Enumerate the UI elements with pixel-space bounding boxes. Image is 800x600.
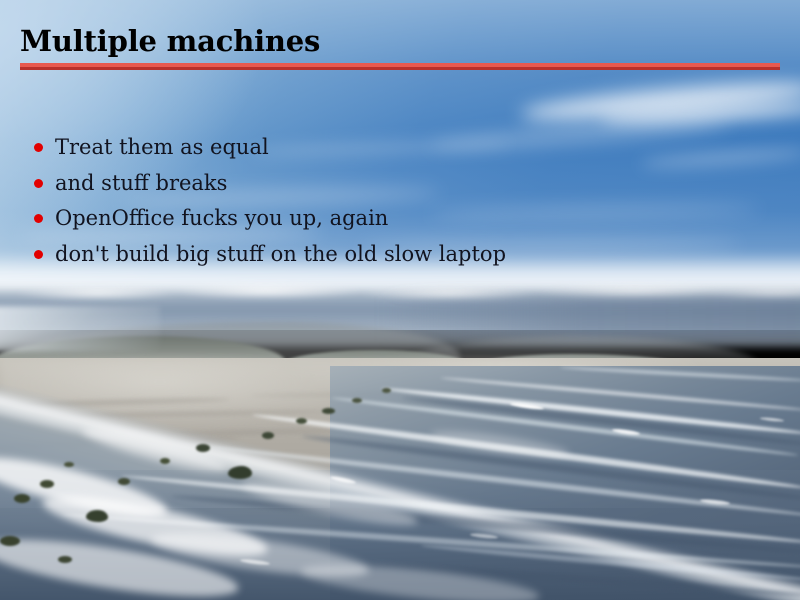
title-divider [20, 63, 780, 70]
list-item: and stuff breaks [34, 166, 774, 202]
list-item-label: and stuff breaks [55, 171, 227, 195]
dune-highlight [0, 306, 160, 352]
presentation-slide: Multiple machines Treat them as equal an… [0, 0, 800, 600]
bullet-dot-icon [34, 250, 43, 259]
seaweed-clump [228, 466, 252, 479]
list-item: OpenOffice fucks you up, again [34, 201, 774, 237]
seaweed-clump [58, 556, 72, 563]
list-item-label: OpenOffice fucks you up, again [55, 206, 388, 230]
list-item-label: Treat them as equal [55, 135, 269, 159]
seaweed-clump [160, 458, 170, 464]
seaweed-clump [40, 480, 54, 488]
seaweed-clump [196, 444, 210, 452]
title-divider-dark-line [20, 67, 780, 70]
seaweed-clump [0, 536, 20, 546]
list-item-label: don't build big stuff on the old slow la… [55, 242, 506, 266]
list-item: Treat them as equal [34, 130, 774, 166]
list-item: don't build big stuff on the old slow la… [34, 237, 774, 273]
seaweed-clump [64, 462, 74, 467]
seaweed-clump [86, 510, 108, 522]
seaweed-clump [118, 478, 130, 485]
cloud-bank-shadow [380, 296, 800, 342]
seaweed-clump [296, 418, 307, 424]
seaweed-clump [382, 388, 391, 393]
seaweed-clump [14, 494, 30, 503]
bullet-dot-icon [34, 179, 43, 188]
bullet-dot-icon [34, 214, 43, 223]
seaweed-clump [352, 398, 362, 403]
seaweed-clump [262, 432, 274, 439]
slide-background-photo [0, 0, 800, 600]
slide-title: Multiple machines [20, 24, 320, 58]
seaweed-clump [322, 408, 335, 414]
slide-bullet-list: Treat them as equal and stuff breaks Ope… [34, 130, 774, 272]
bullet-dot-icon [34, 143, 43, 152]
